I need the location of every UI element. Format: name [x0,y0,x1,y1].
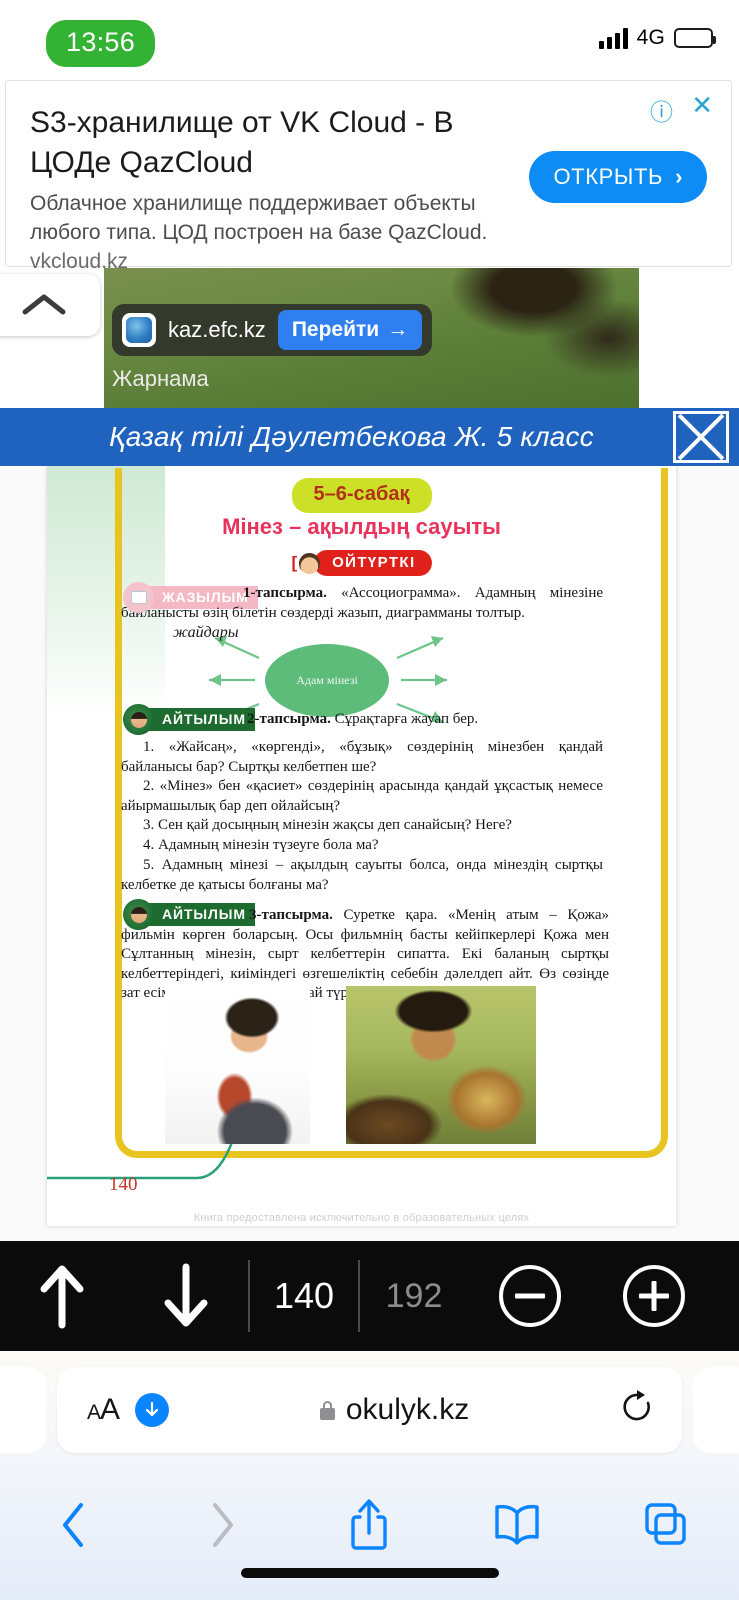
download-arrow-icon[interactable] [135,1393,169,1427]
reader-toolbar: 140 192 [0,1241,739,1351]
forward-button [148,1492,296,1558]
zoom-out-button[interactable] [468,1241,592,1351]
url-text: okulyk.kz [346,1393,469,1427]
minus-circle-icon [499,1265,561,1327]
diagram-center-node: Адам мінезі [265,644,389,717]
browser-address-zone: AAAA okulyk.kz [0,1351,739,1466]
task-2-question-4: 4. Адамның мінезін түзеуге бола ма? [121,836,603,856]
book-title: Қазақ тілі Дәулетбекова Ж. 5 класс [0,421,673,453]
task-2-number: 2-тапсырма. [247,711,331,727]
close-icon[interactable]: ✕ [691,90,713,121]
rubric-bracket: [ [291,553,297,573]
next-tab-preview[interactable] [693,1367,739,1453]
notebook-icon [123,582,154,613]
reload-icon [620,1389,654,1427]
speaker-person-icon [123,704,154,735]
site-favicon-icon [122,313,156,347]
task-2-text: 2-тапсырма. Сұрақтарға жауап бер. [121,710,603,730]
ad-host-label: kaz.efc.kz [168,317,266,343]
task-2-question-3: 3. Сен қай досыңның мінезін жақсы деп са… [121,816,603,836]
reader-viewport[interactable]: 5–6-сабақ Мінез – ақылдың сауыты [ ОЙТҮР… [0,466,739,1241]
back-button[interactable] [0,1492,148,1558]
ad-body: Облачное хранилище поддерживает объекты … [30,189,510,276]
previous-page-button[interactable] [0,1241,124,1351]
reload-button[interactable] [620,1389,654,1432]
url-display[interactable]: okulyk.kz [169,1393,620,1427]
status-clock: 13:56 [46,20,155,67]
battery-icon [674,28,713,48]
task-2-question-5: 5. Адамның мінезі – ақылдың сауыты болса… [121,856,603,895]
zoom-in-button[interactable] [592,1241,716,1351]
previous-tab-preview[interactable] [0,1367,46,1453]
chevron-right-icon [207,1500,237,1550]
share-button[interactable] [296,1492,444,1558]
speaker-person-icon [123,899,154,930]
task-2-question-1: 1. «Жайсаң», «көргенді», «бұзық» сөздері… [121,738,603,777]
current-page-indicator[interactable]: 140 [250,1275,358,1317]
total-pages-label: 192 [360,1277,468,1316]
info-circle-icon[interactable]: ⓘ [650,93,673,127]
lesson-number-badge: 5–6-сабақ [291,478,431,513]
address-bar[interactable]: AAAA okulyk.kz [57,1367,682,1453]
arrow-right-icon: → [387,318,408,342]
task-1-body: «Ассоциограмма». Адамның мінезіне байлан… [121,585,603,621]
chevron-left-icon [59,1500,89,1550]
ad-open-button[interactable]: ОТКРЫТЬ › [529,151,707,203]
arrow-up-icon [34,1263,90,1329]
tabs-button[interactable] [591,1492,739,1558]
status-bar: 13:56 4G [0,0,739,78]
chevron-right-icon: › [675,164,683,190]
share-icon [347,1497,391,1553]
ad-cta-label: ОТКРЫТЬ [553,164,663,190]
boy-in-hat-photo [346,986,536,1144]
video-advertisement[interactable]: kaz.efc.kz Перейти → Жарнама [0,268,739,418]
boy-smiling-photo [165,986,310,1144]
printed-page-number: 140 [109,1174,138,1196]
diagram-center-label: Адам мінезі [296,673,358,688]
ad-title: S3-хранилище от VK Cloud - В ЦОДе QazClo… [30,103,530,183]
bookmarks-button[interactable] [443,1492,591,1558]
cellular-bars-icon [599,27,628,49]
network-type-label: 4G [637,26,665,50]
ad-body-text: Облачное хранилище поддерживает объекты … [30,192,487,244]
phone-screen: 13:56 4G ⓘ ✕ S3-хранилище от VK Cloud - … [0,0,739,1600]
top-advertisement[interactable]: ⓘ ✕ S3-хранилище от VK Cloud - В ЦОДе Qa… [5,80,732,267]
ad-go-button[interactable]: Перейти → [278,310,422,350]
ad-go-label: Перейти [292,318,379,342]
home-indicator [241,1568,499,1578]
plus-circle-icon [623,1265,685,1327]
task-3-photos [165,986,536,1144]
close-icon[interactable] [673,411,729,463]
page-footer-note: Книга предоставлена исключительно в обра… [47,1212,676,1224]
arrow-down-icon [158,1263,214,1329]
book-page: 5–6-сабақ Мінез – ақылдың сауыты [ ОЙТҮР… [47,466,676,1226]
text-size-button[interactable]: AAAA [87,1393,119,1427]
ad-site-chip[interactable]: kaz.efc.kz Перейти → [112,304,432,356]
chevron-up-icon [21,291,67,319]
next-page-button[interactable] [124,1241,248,1351]
book-icon [492,1503,542,1547]
task-1-text: 1-тапсырма. «Ассоциограмма». Адамның мін… [121,584,603,623]
task-2-body: Сұрақтарға жауап бер. [335,711,479,727]
task-2-question-2: 2. «Мінез» бен «қасиет» сөздерінің арасы… [121,777,603,816]
status-indicators: 4G [599,26,713,50]
tabs-icon [642,1501,688,1549]
browser-toolbar [0,1466,739,1600]
ad-collapse-button[interactable] [0,274,100,336]
task-3-number: 3-тапсырма. [249,907,333,923]
task-1-number: 1-тапсырма. [243,585,327,601]
lesson-title: Мінез – ақылдың сауыты [222,514,501,540]
rubric-label: ОЙТҮРТКІ [314,550,431,576]
book-title-bar: Қазақ тілі Дәулетбекова Ж. 5 класс [0,408,739,466]
face-icon [299,553,320,574]
lock-icon [320,1401,335,1420]
rubric-badge: [ ОЙТҮРТКІ [291,550,431,576]
diagram-side-label: жайдары [173,624,239,642]
ad-disclosure-label: Жарнама [112,366,209,392]
